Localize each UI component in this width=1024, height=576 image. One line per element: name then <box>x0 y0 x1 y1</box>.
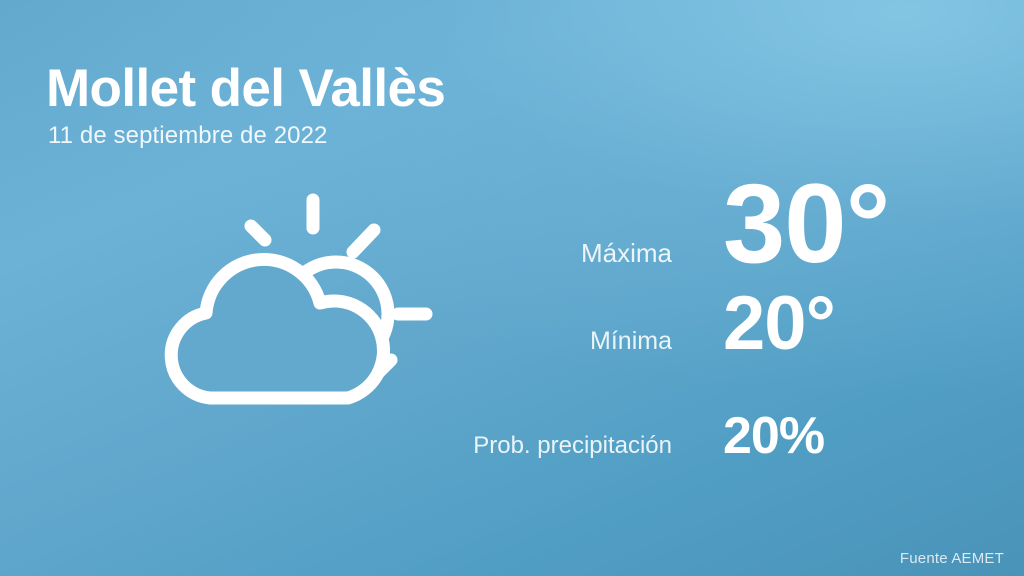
city-title: Mollet del Vallès <box>46 60 706 117</box>
stat-row-minima: Mínima 20° <box>380 286 980 410</box>
stat-value-maxima: 30° <box>672 168 980 280</box>
forecast-date: 11 de septiembre de 2022 <box>48 123 706 149</box>
cloud-icon <box>171 259 383 398</box>
weather-card: Mollet del Vallès 11 de septiembre de 20… <box>0 0 1024 576</box>
source-attribution: Fuente AEMET <box>900 550 1004 567</box>
stat-label-minima: Mínima <box>380 327 672 356</box>
stat-label-maxima: Máxima <box>380 238 672 269</box>
stat-row-maxima: Máxima 30° <box>380 168 980 286</box>
stat-row-precipitacion: Prob. precipitación 20% <box>380 410 980 480</box>
stat-value-precipitacion: 20% <box>672 410 980 462</box>
card-header: Mollet del Vallès 11 de septiembre de 20… <box>46 60 706 150</box>
stats-list: Máxima 30° Mínima 20° Prob. precipitació… <box>380 168 980 480</box>
stat-label-precipitacion: Prob. precipitación <box>380 432 672 460</box>
stat-value-minima: 20° <box>672 286 980 362</box>
